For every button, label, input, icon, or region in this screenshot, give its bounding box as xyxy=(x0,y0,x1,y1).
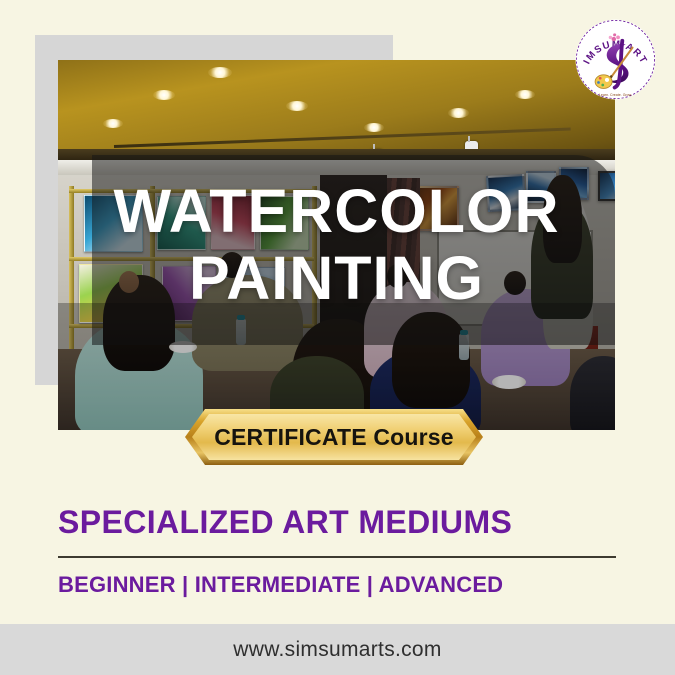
ceiling-light xyxy=(153,90,175,100)
logo-tagline: Learn. Create. Grow. xyxy=(599,93,632,97)
course-poster: WATERCOLOR PAINTING CERTIFICATE Course S… xyxy=(0,0,675,675)
poster-title: WATERCOLOR PAINTING xyxy=(58,178,615,312)
logo-palette xyxy=(595,75,612,89)
footer-bar: www.simsumarts.com xyxy=(0,624,675,675)
divider-line xyxy=(58,556,616,558)
title-line-1: WATERCOLOR xyxy=(58,178,615,245)
ceiling-light xyxy=(515,90,535,99)
ceiling-light xyxy=(286,101,308,111)
ceiling-light xyxy=(448,108,469,118)
certificate-badge: CERTIFICATE Course xyxy=(185,409,483,465)
simsum-arts-logo[interactable]: SIMSUM ARTS xyxy=(573,17,658,102)
ceiling-light xyxy=(103,119,123,128)
badge-label: CERTIFICATE Course xyxy=(214,424,454,451)
course-levels: BEGINNER | INTERMEDIATE | ADVANCED xyxy=(58,572,503,598)
title-line-2: PAINTING xyxy=(58,245,615,312)
website-url[interactable]: www.simsumarts.com xyxy=(233,638,441,662)
course-category-headline: SPECIALIZED ART MEDIUMS xyxy=(58,504,512,541)
ceiling-light xyxy=(364,123,384,132)
